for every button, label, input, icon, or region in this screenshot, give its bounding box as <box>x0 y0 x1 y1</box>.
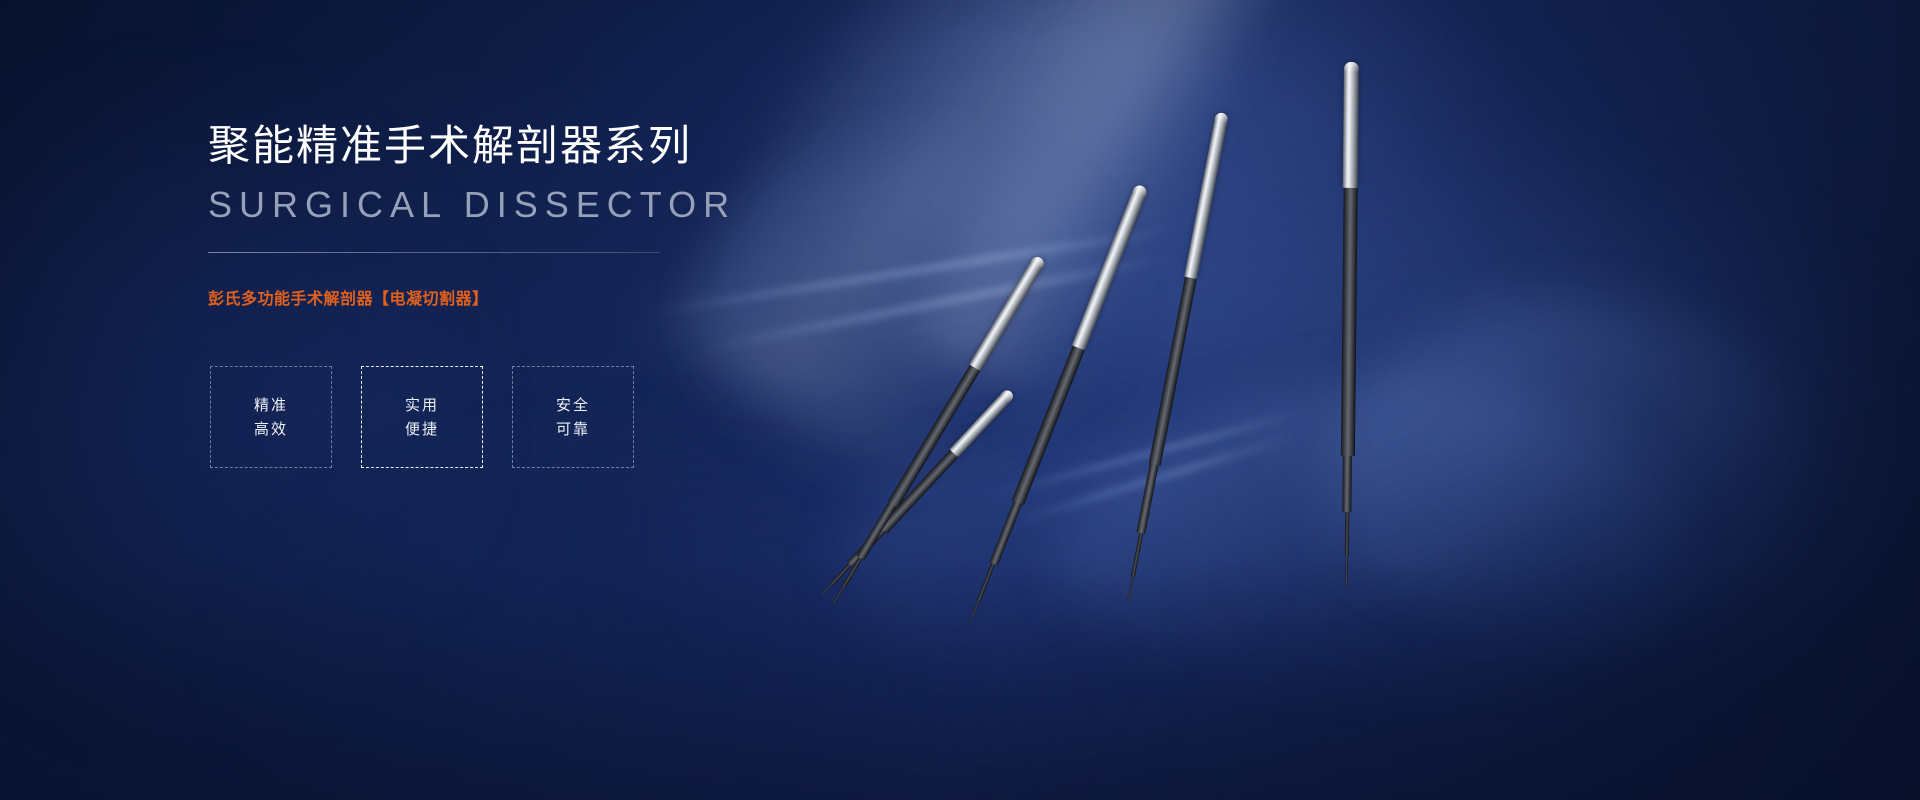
feature-line-2: 便捷 <box>405 422 439 437</box>
hero-banner: 聚能精准手术解剖器系列 SURGICAL DISSECTOR 彭氏多功能手术解剖… <box>0 0 1920 800</box>
blurred-hand-silhouette <box>1330 300 1800 640</box>
feature-box-group: 精准 高效 实用 便捷 安全 可靠 <box>210 366 634 468</box>
feature-box-precision[interactable]: 精准 高效 <box>210 366 332 468</box>
feature-box-practical[interactable]: 实用 便捷 <box>361 366 483 468</box>
feature-line-1: 精准 <box>254 398 288 413</box>
feature-line-2: 可靠 <box>556 422 590 437</box>
banner-title-english: SURGICAL DISSECTOR <box>208 183 848 226</box>
feature-line-1: 安全 <box>556 398 590 413</box>
banner-text-block: 聚能精准手术解剖器系列 SURGICAL DISSECTOR 彭氏多功能手术解剖… <box>208 120 848 309</box>
feature-box-safety[interactable]: 安全 可靠 <box>512 366 634 468</box>
title-divider <box>208 252 660 253</box>
feature-line-2: 高效 <box>254 422 288 437</box>
feature-line-1: 实用 <box>405 398 439 413</box>
banner-title-chinese: 聚能精准手术解剖器系列 <box>208 120 848 173</box>
banner-subtitle-product: 彭氏多功能手术解剖器【电凝切割器】 <box>208 285 848 309</box>
